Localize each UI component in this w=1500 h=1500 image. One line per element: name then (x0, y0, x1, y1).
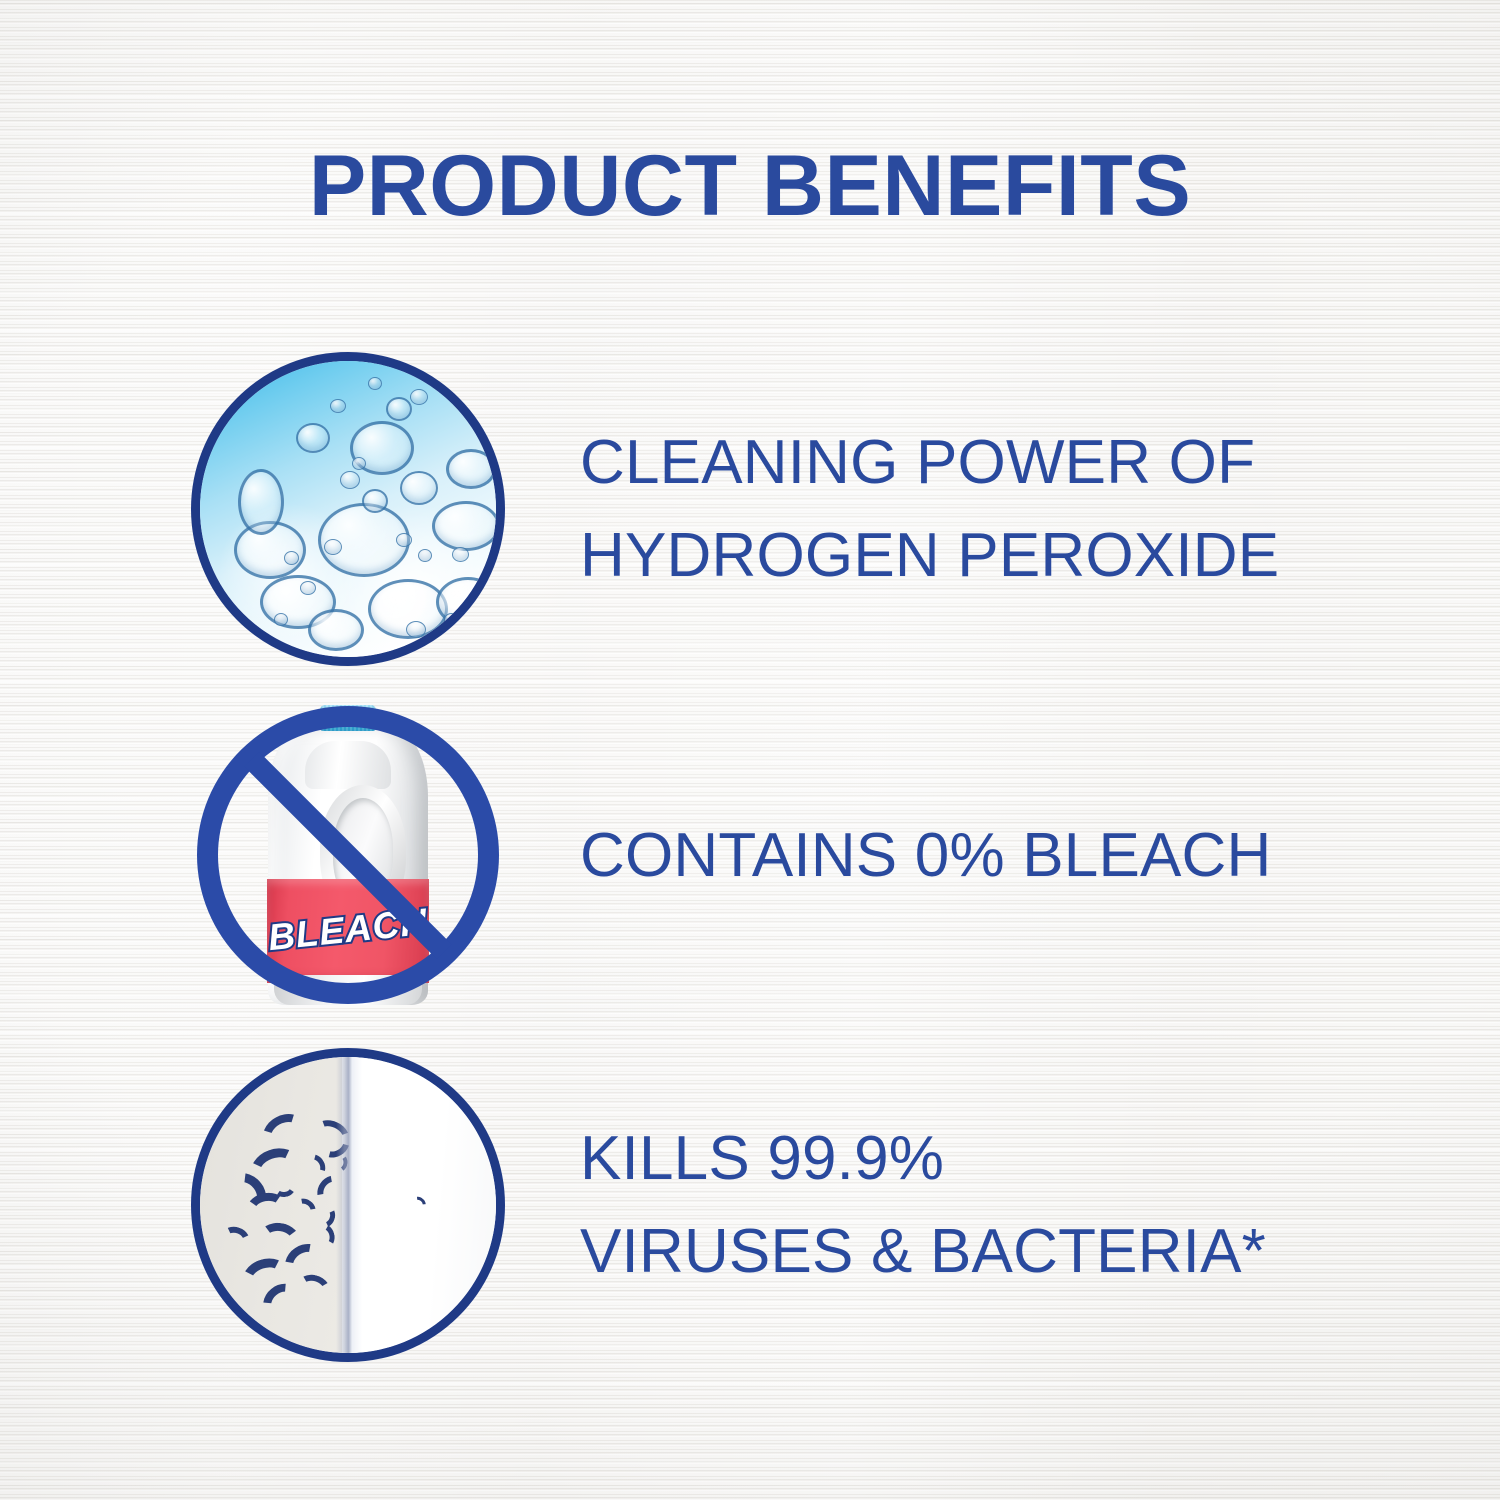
benefit-label-kills-germs: KILLS 99.9% VIRUSES & BACTERIA* (580, 1112, 1266, 1298)
bottle-label: BLEACH (267, 879, 429, 983)
bottle-label-text: BLEACH (265, 901, 431, 960)
bubble-shape (410, 389, 428, 405)
bleach-bottle-graphic: BLEACH (268, 705, 428, 1005)
bottle-body: BLEACH (268, 727, 428, 1005)
bubble-shape (284, 551, 299, 565)
benefit-label-no-bleach: CONTAINS 0% BLEACH (580, 809, 1272, 902)
benefit-icon-hydrogen-peroxide (191, 352, 505, 666)
page-title: PRODUCT BENEFITS (0, 143, 1500, 229)
bubble-shape (296, 423, 330, 453)
bubble-shape (362, 489, 388, 513)
bottle-base (274, 975, 422, 1005)
bubble-shape (444, 613, 459, 627)
benefit-row: KILLS 99.9% VIRUSES & BACTERIA* (0, 1048, 1500, 1362)
bubble-shape (352, 457, 366, 470)
bubble-shape (308, 609, 364, 651)
product-benefits-poster: PRODUCT BENEFITS CLEANING POWER OF HYDRO… (0, 0, 1500, 1500)
bubble-shape (452, 547, 469, 562)
bubble-shape (368, 377, 382, 390)
bubble-shape (340, 471, 360, 489)
benefit-icon-kills-germs (191, 1048, 505, 1362)
bubble-shape (238, 469, 284, 535)
bubble-shape (330, 399, 346, 413)
bubble-shape (324, 539, 342, 555)
bubble-shape (446, 449, 496, 489)
benefit-row: BLEACH CONTAINS 0% BLEACH (0, 700, 1500, 1010)
bubble-shape (432, 501, 500, 551)
benefit-row: CLEANING POWER OF HYDROGEN PEROXIDE (0, 352, 1500, 666)
bubble-shape (400, 471, 438, 505)
benefit-label-hydrogen-peroxide: CLEANING POWER OF HYDROGEN PEROXIDE (580, 416, 1279, 602)
bubbles-water-icon (191, 352, 505, 666)
bacteria-before-after-icon (191, 1048, 505, 1362)
bottle-cap (320, 705, 376, 731)
bubble-shape (386, 397, 412, 421)
bubble-shape (274, 613, 288, 626)
surface-divider (336, 1057, 362, 1353)
bubble-shape (396, 533, 412, 547)
bubble-shape (300, 581, 316, 595)
bubble-shape (418, 549, 432, 562)
bubble-shape (406, 621, 426, 638)
benefit-icon-no-bleach: BLEACH (191, 700, 505, 1010)
bottle-shoulder (305, 741, 391, 789)
